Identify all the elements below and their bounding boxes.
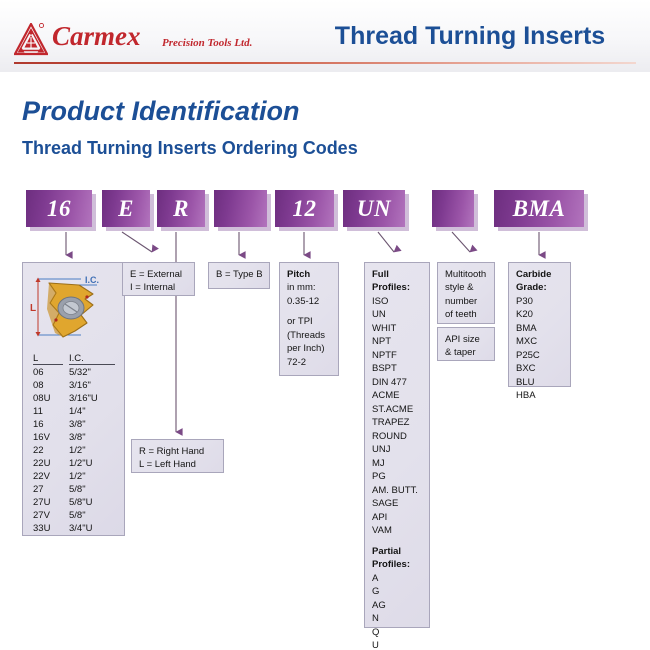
cell-ic: 3/8" <box>69 418 121 431</box>
table-row: 16 3/8" <box>27 418 122 431</box>
pitch-mm-label: in mm: <box>287 281 332 294</box>
table-row: 27 5/8" <box>27 483 122 496</box>
page-root: Carmex Precision Tools Ltd. Thread Turni… <box>0 0 650 650</box>
cell-l: 16 <box>33 418 63 431</box>
multitooth-line: style & <box>445 281 488 294</box>
cell-ic: 1/2" <box>69 470 121 483</box>
partial-profile-item: Q <box>372 626 423 639</box>
size-table: L I.C. 06 5/32" 08 3/16" 08U 3/16"U 11 1… <box>27 353 122 535</box>
profile-item: ROUND <box>372 430 423 443</box>
code-box-label: BMA <box>513 197 566 220</box>
size-table-header-l: L <box>33 353 63 365</box>
multitooth-box: Multitooth style & number of teeth <box>437 262 495 324</box>
header-divider <box>14 62 636 64</box>
code-box-pitch[interactable]: 12 <box>275 190 334 227</box>
profile-item: DIN 477 <box>372 376 423 389</box>
external-internal-box: E = External I = Internal <box>122 262 195 296</box>
code-box-hand[interactable]: R <box>157 190 205 227</box>
carbide-grade-item: P25C <box>516 349 564 362</box>
carbide-grade-item: P30 <box>516 295 564 308</box>
size-table-header-ic: I.C. <box>69 353 115 365</box>
profile-item: ST.ACME <box>372 403 423 416</box>
carbide-grade-box: Carbide Grade: P30 K20 BMA MXC P25C BXC … <box>508 262 571 387</box>
carbide-grade-item: MXC <box>516 335 564 348</box>
profiles-box: Full Profiles: ISO UN WHIT NPT NPTF BSPT… <box>364 262 430 628</box>
carbide-title-1: Carbide <box>516 268 564 281</box>
pitch-mm-range: 0.35-12 <box>287 295 332 308</box>
svg-text:L: L <box>30 303 36 314</box>
table-row: 08U 3/16"U <box>27 392 122 405</box>
cell-ic: 3/8" <box>69 431 121 444</box>
logo-tagline: Precision Tools Ltd. <box>162 37 252 49</box>
profile-item: BSPT <box>372 362 423 375</box>
insert-size-panel: L I.C. L I.C. 06 5/32" 08 <box>22 262 125 536</box>
type-line: B = Type B <box>216 268 263 281</box>
table-row: 16V 3/8" <box>27 431 122 444</box>
table-row: 27U 5/8"U <box>27 496 122 509</box>
multitooth-line: number <box>445 295 488 308</box>
code-box-carbide-grade[interactable]: BMA <box>494 190 584 227</box>
profile-item: ISO <box>372 295 423 308</box>
code-box-external-internal[interactable]: E <box>102 190 150 227</box>
multitooth-line: of teeth <box>445 308 488 321</box>
cell-ic: 3/16" <box>69 379 121 392</box>
profile-item: NPT <box>372 335 423 348</box>
pitch-box: Pitch in mm: 0.35-12 or TPI (Threads per… <box>279 262 339 376</box>
size-table-header: L I.C. <box>27 353 122 366</box>
multitooth-line: Multitooth <box>445 268 488 281</box>
profile-item: UNJ <box>372 443 423 456</box>
api-line: API size <box>445 333 488 346</box>
partial-profile-item: AG <box>372 599 423 612</box>
cell-ic: 5/8" <box>69 483 121 496</box>
table-row: 08 3/16" <box>27 379 122 392</box>
code-box-size[interactable]: 16 <box>26 190 92 227</box>
profile-item: NPTF <box>372 349 423 362</box>
partial-profiles-title-2: Profiles: <box>372 558 423 571</box>
cell-ic: 3/16"U <box>69 392 121 405</box>
table-row: 11 1/4" <box>27 405 122 418</box>
full-profiles-title-1: Full <box>372 268 423 281</box>
page-title: Product Identification <box>22 96 300 127</box>
cell-l: 16V <box>33 431 63 444</box>
carbide-grade-item: HBA <box>516 389 564 402</box>
cell-l: 22 <box>33 444 63 457</box>
cell-ic: 5/8" <box>69 509 121 522</box>
cell-l: 22V <box>33 470 63 483</box>
pitch-tpi-note-2: per Inch) <box>287 342 332 355</box>
profile-item: UN <box>372 308 423 321</box>
carbide-grade-item: K20 <box>516 308 564 321</box>
carmex-logo: Carmex Precision Tools Ltd. <box>14 22 254 58</box>
cell-l: 27V <box>33 509 63 522</box>
cell-l: 27U <box>33 496 63 509</box>
left-hand-line: L = Left Hand <box>139 458 217 471</box>
internal-line: I = Internal <box>130 281 188 294</box>
cell-ic: 5/32" <box>69 366 121 379</box>
api-line: & taper <box>445 346 488 359</box>
profile-item: WHIT <box>372 322 423 335</box>
pitch-title: Pitch <box>287 268 332 281</box>
page-subtitle: Thread Turning Inserts Ordering Codes <box>22 138 358 159</box>
code-box-profile[interactable]: UN <box>343 190 405 227</box>
profile-item: AM. BUTT. <box>372 484 423 497</box>
partial-profile-item: U <box>372 639 423 650</box>
insert-type-box: B = Type B <box>208 262 270 289</box>
pitch-spacer <box>287 308 332 315</box>
code-box-label: 16 <box>47 197 71 220</box>
right-hand-line: R = Right Hand <box>139 445 217 458</box>
table-row: 33U 3/4"U <box>27 522 122 535</box>
profile-item: SAGE <box>372 497 423 510</box>
cell-l: 08U <box>33 392 63 405</box>
svg-text:I.C.: I.C. <box>85 275 99 285</box>
header-title: Thread Turning Inserts <box>300 22 640 51</box>
carbide-grade-item: BMA <box>516 322 564 335</box>
partial-profile-item: A <box>372 572 423 585</box>
table-row: 06 5/32" <box>27 366 122 379</box>
carbide-grade-item: BLU <box>516 376 564 389</box>
table-row: 22 1/2" <box>27 444 122 457</box>
table-row: 22V 1/2" <box>27 470 122 483</box>
page-header: Carmex Precision Tools Ltd. Thread Turni… <box>0 0 650 72</box>
cell-l: 27 <box>33 483 63 496</box>
external-line: E = External <box>130 268 188 281</box>
full-profiles-title-2: Profiles: <box>372 281 423 294</box>
code-box-label: E <box>118 197 134 220</box>
code-box-type[interactable] <box>214 190 267 227</box>
pitch-tpi-note-1: (Threads <box>287 329 332 342</box>
cell-l: 11 <box>33 405 63 418</box>
cell-l: 33U <box>33 522 63 535</box>
code-box-label: R <box>173 197 189 220</box>
partial-profile-item: G <box>372 585 423 598</box>
profile-item: MJ <box>372 457 423 470</box>
partial-profile-item: N <box>372 612 423 625</box>
pitch-tpi-label: or TPI <box>287 315 332 328</box>
carbide-grade-item: BXC <box>516 362 564 375</box>
partial-profiles-title-1: Partial <box>372 545 423 558</box>
code-box-label: UN <box>357 197 391 220</box>
profiles-spacer <box>372 538 423 545</box>
table-row: 22U 1/2"U <box>27 457 122 470</box>
carbide-title-2: Grade: <box>516 281 564 294</box>
api-size-box: API size & taper <box>437 327 495 361</box>
cell-l: 08 <box>33 379 63 392</box>
profile-item: ACME <box>372 389 423 402</box>
cell-ic: 1/2"U <box>69 457 121 470</box>
cell-ic: 1/2" <box>69 444 121 457</box>
code-box-multitooth[interactable] <box>432 190 474 227</box>
profile-item: API <box>372 511 423 524</box>
cell-ic: 1/4" <box>69 405 121 418</box>
cell-ic: 3/4"U <box>69 522 121 535</box>
profile-item: VAM <box>372 524 423 537</box>
profile-item: PG <box>372 470 423 483</box>
cell-l: 06 <box>33 366 63 379</box>
code-box-label: 12 <box>293 197 317 220</box>
threading-insert-diagram-icon: L I.C. <box>23 263 124 355</box>
cell-l: 22U <box>33 457 63 470</box>
carmex-triangle-logo-icon <box>14 23 48 56</box>
pitch-tpi-range: 72-2 <box>287 356 332 369</box>
table-row: 27V 5/8" <box>27 509 122 522</box>
hand-direction-box: R = Right Hand L = Left Hand <box>131 439 224 473</box>
cell-ic: 5/8"U <box>69 496 121 509</box>
profile-item: TRAPEZ <box>372 416 423 429</box>
logo-company-name: Carmex <box>52 21 141 52</box>
